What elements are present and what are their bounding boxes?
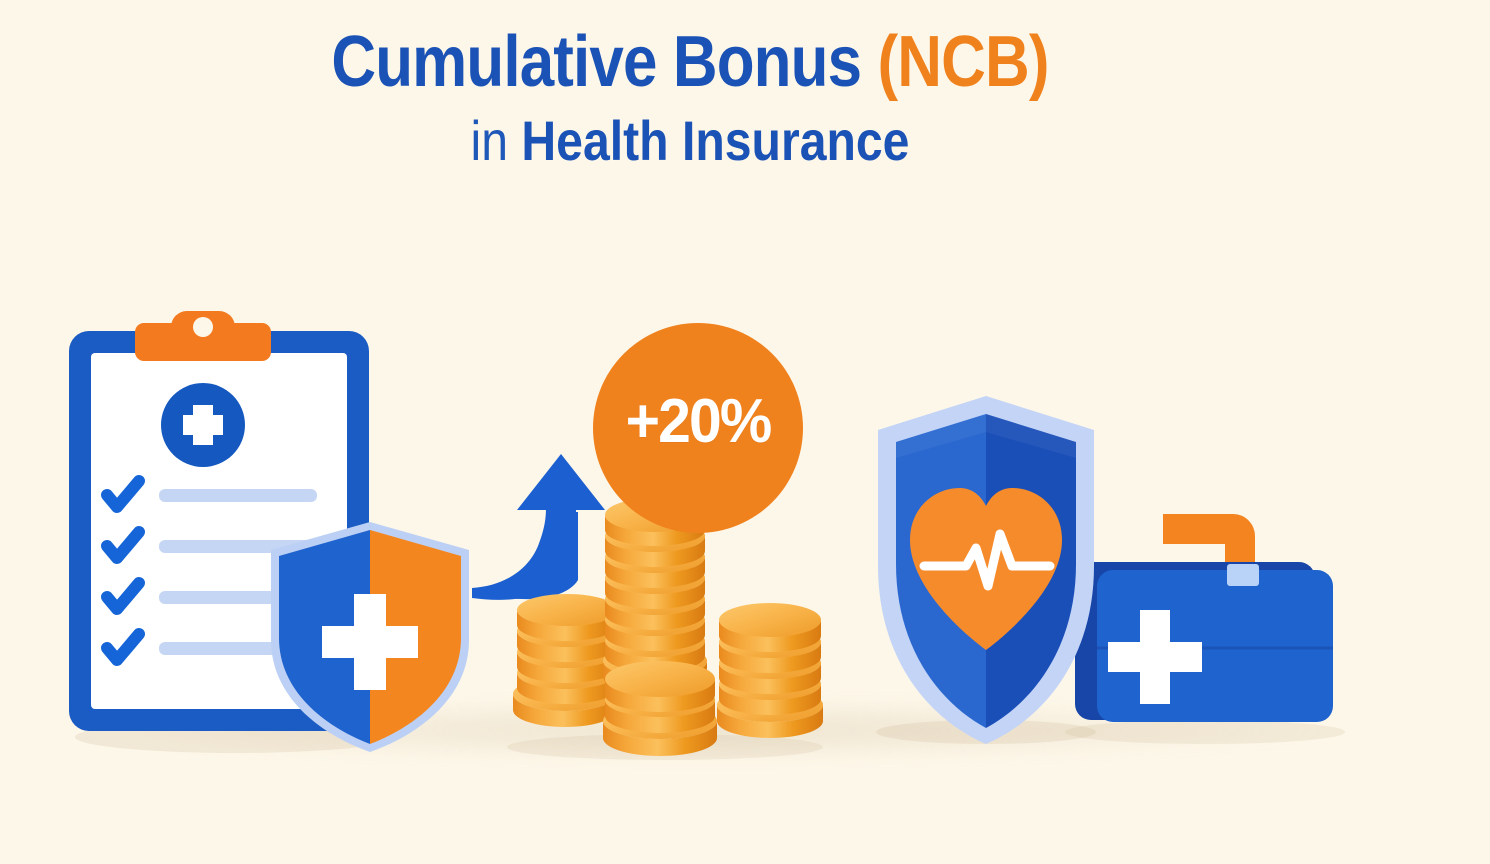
headline-block: Cumulative Bonus (NCB) in Health Insuran… <box>0 22 1490 174</box>
half-blue-orange-shield <box>265 520 475 755</box>
coin <box>517 594 617 641</box>
headline-main-text: Cumulative Bonus <box>331 22 877 102</box>
coverfox-logo[interactable]: Coverfox <box>1200 782 1465 856</box>
badge-label: +20% <box>603 383 793 461</box>
checklist-line <box>159 489 317 502</box>
kit-latch <box>1227 564 1259 586</box>
coin-stack-right <box>717 603 823 738</box>
coin-stacks <box>495 495 835 760</box>
coin-stack-center-front <box>603 661 717 756</box>
headline-subtitle-light: in <box>471 109 522 172</box>
headline-line-1: Cumulative Bonus (NCB) <box>2 22 1378 102</box>
clipboard-clip-hole <box>193 317 213 337</box>
heart-health-shield <box>862 388 1110 748</box>
headline-accent-text: (NCB) <box>878 22 1049 102</box>
headline-line-2: in Health Insurance <box>2 108 1378 174</box>
headline-subtitle-bold: Health Insurance <box>521 109 909 172</box>
infographic-canvas: Cumulative Bonus (NCB) in Health Insuran… <box>0 0 1490 864</box>
coin <box>719 603 821 652</box>
coin <box>605 661 715 712</box>
coin-stack-left <box>513 594 617 727</box>
